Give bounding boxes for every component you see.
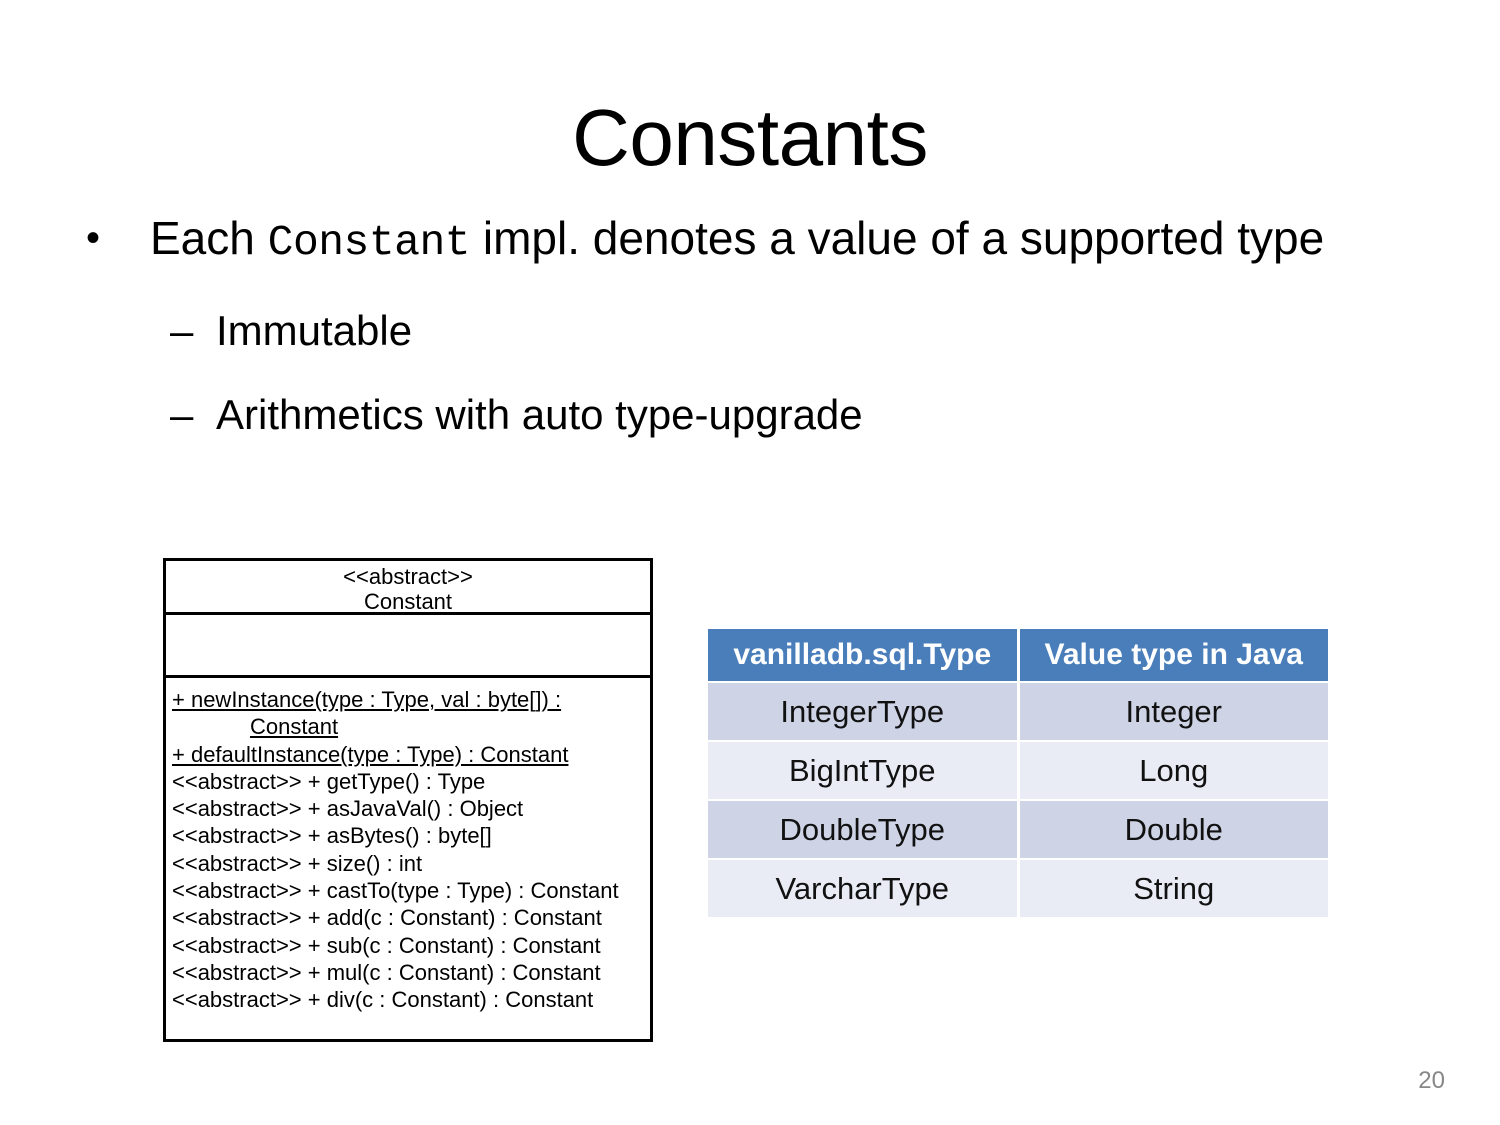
- uml-method-row: <<abstract>> + mul(c : Constant) : Const…: [172, 959, 650, 986]
- table-row: VarcharType String: [708, 860, 1328, 917]
- bullet-text-code: Constant: [268, 218, 470, 267]
- uml-method-row: <<abstract>> + sub(c : Constant) : Const…: [172, 932, 650, 959]
- uml-method-row: <<abstract>> + castTo(type : Type) : Con…: [172, 877, 650, 904]
- bullet-text-pre: Each: [150, 212, 268, 264]
- table-body: IntegerType Integer BigIntType Long Doub…: [708, 683, 1328, 917]
- uml-method-row: <<abstract>> + add(c : Constant) : Const…: [172, 904, 650, 931]
- table-row: DoubleType Double: [708, 801, 1328, 858]
- table-row: BigIntType Long: [708, 742, 1328, 799]
- cell-sql-type: BigIntType: [708, 742, 1017, 799]
- page-title: Constants: [0, 92, 1500, 184]
- cell-sql-type: IntegerType: [708, 683, 1017, 740]
- table-row: IntegerType Integer: [708, 683, 1328, 740]
- uml-attributes-compartment: [166, 615, 650, 678]
- bullet-text-post: impl. denotes a value of a supported typ…: [470, 212, 1324, 264]
- column-header-sql-type: vanilladb.sql.Type: [708, 629, 1017, 681]
- bullet-level1: •Each Constant impl. denotes a value of …: [78, 196, 1388, 285]
- dash-marker-icon: –: [170, 373, 193, 457]
- type-mapping-table: vanilladb.sql.Type Value type in Java In…: [705, 627, 1331, 919]
- cell-java-type: Integer: [1020, 683, 1329, 740]
- bullet-level2-arithmetics: –Arithmetics with auto type-upgrade: [170, 373, 1388, 457]
- cell-java-type: Long: [1020, 742, 1329, 799]
- uml-method-row: <<abstract>> + asJavaVal() : Object: [172, 795, 650, 822]
- uml-method-row: <<abstract>> + asBytes() : byte[]: [172, 822, 650, 849]
- table-header-row: vanilladb.sql.Type Value type in Java: [708, 629, 1328, 681]
- uml-stereotype: <<abstract>>: [166, 564, 650, 589]
- sub-bullet-label: Arithmetics with auto type-upgrade: [216, 391, 863, 438]
- uml-method-signature: + newInstance(type : Type, val : byte[])…: [172, 687, 561, 712]
- uml-method-row: <<abstract>> + size() : int: [172, 850, 650, 877]
- sub-bullet-label: Immutable: [216, 307, 412, 354]
- uml-class-diagram: <<abstract>> Constant + newInstance(type…: [163, 558, 653, 1042]
- uml-class-name: Constant: [166, 589, 650, 614]
- dash-marker-icon: –: [170, 289, 193, 373]
- slide-canvas: Constants •Each Constant impl. denotes a…: [0, 0, 1500, 1125]
- bullet-marker-icon: •: [86, 196, 100, 280]
- uml-method-row: + newInstance(type : Type, val : byte[])…: [172, 686, 650, 741]
- bullet-level2-immutable: –Immutable: [170, 289, 1388, 373]
- uml-method-row: <<abstract>> + div(c : Constant) : Const…: [172, 986, 650, 1013]
- body-bullet-list: •Each Constant impl. denotes a value of …: [78, 196, 1388, 457]
- table-header: vanilladb.sql.Type Value type in Java: [708, 629, 1328, 681]
- uml-methods-compartment: + newInstance(type : Type, val : byte[])…: [166, 678, 650, 1014]
- cell-sql-type: VarcharType: [708, 860, 1017, 917]
- uml-method-continuation: Constant: [172, 713, 650, 740]
- uml-method-row: + defaultInstance(type : Type) : Constan…: [172, 741, 650, 768]
- uml-header-compartment: <<abstract>> Constant: [166, 561, 650, 615]
- column-header-java-type: Value type in Java: [1020, 629, 1329, 681]
- cell-java-type: String: [1020, 860, 1329, 917]
- page-number: 20: [1418, 1067, 1445, 1095]
- cell-sql-type: DoubleType: [708, 801, 1017, 858]
- cell-java-type: Double: [1020, 801, 1329, 858]
- sub-bullet-list: –Immutable –Arithmetics with auto type-u…: [78, 289, 1388, 457]
- uml-method-row: <<abstract>> + getType() : Type: [172, 768, 650, 795]
